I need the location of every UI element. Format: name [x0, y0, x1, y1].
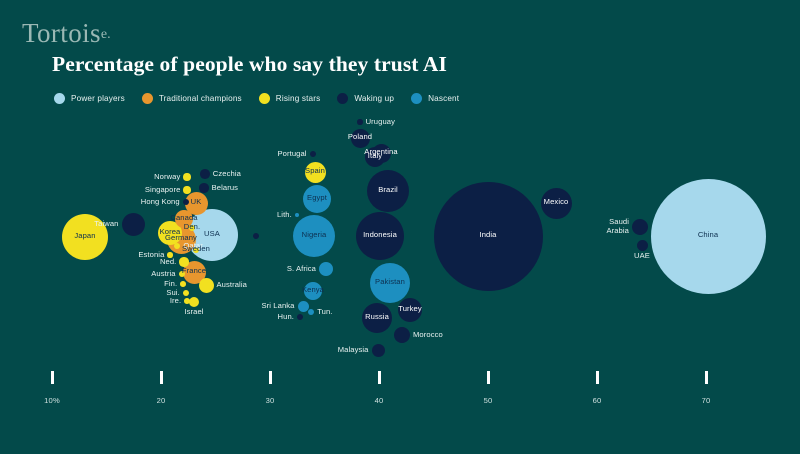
chart-page: Tortoise. Percentage of people who say t… — [0, 0, 800, 454]
axis-tick-mark — [487, 371, 490, 384]
axis-tick-mark — [705, 371, 708, 384]
axis-tick-mark — [269, 371, 272, 384]
axis-tick-label: 30 — [249, 396, 291, 405]
axis-tick-label: 40 — [358, 396, 400, 405]
axis-tick-mark — [160, 371, 163, 384]
axis-tick-mark — [51, 371, 54, 384]
axis-tick-label: 20 — [140, 396, 182, 405]
x-axis: 10%203040506070 — [0, 0, 800, 454]
axis-tick-mark — [378, 371, 381, 384]
axis-tick-label: 60 — [576, 396, 618, 405]
axis-tick-label: 50 — [467, 396, 509, 405]
axis-tick-mark — [596, 371, 599, 384]
axis-tick-label: 10% — [31, 396, 73, 405]
axis-tick-label: 70 — [685, 396, 727, 405]
